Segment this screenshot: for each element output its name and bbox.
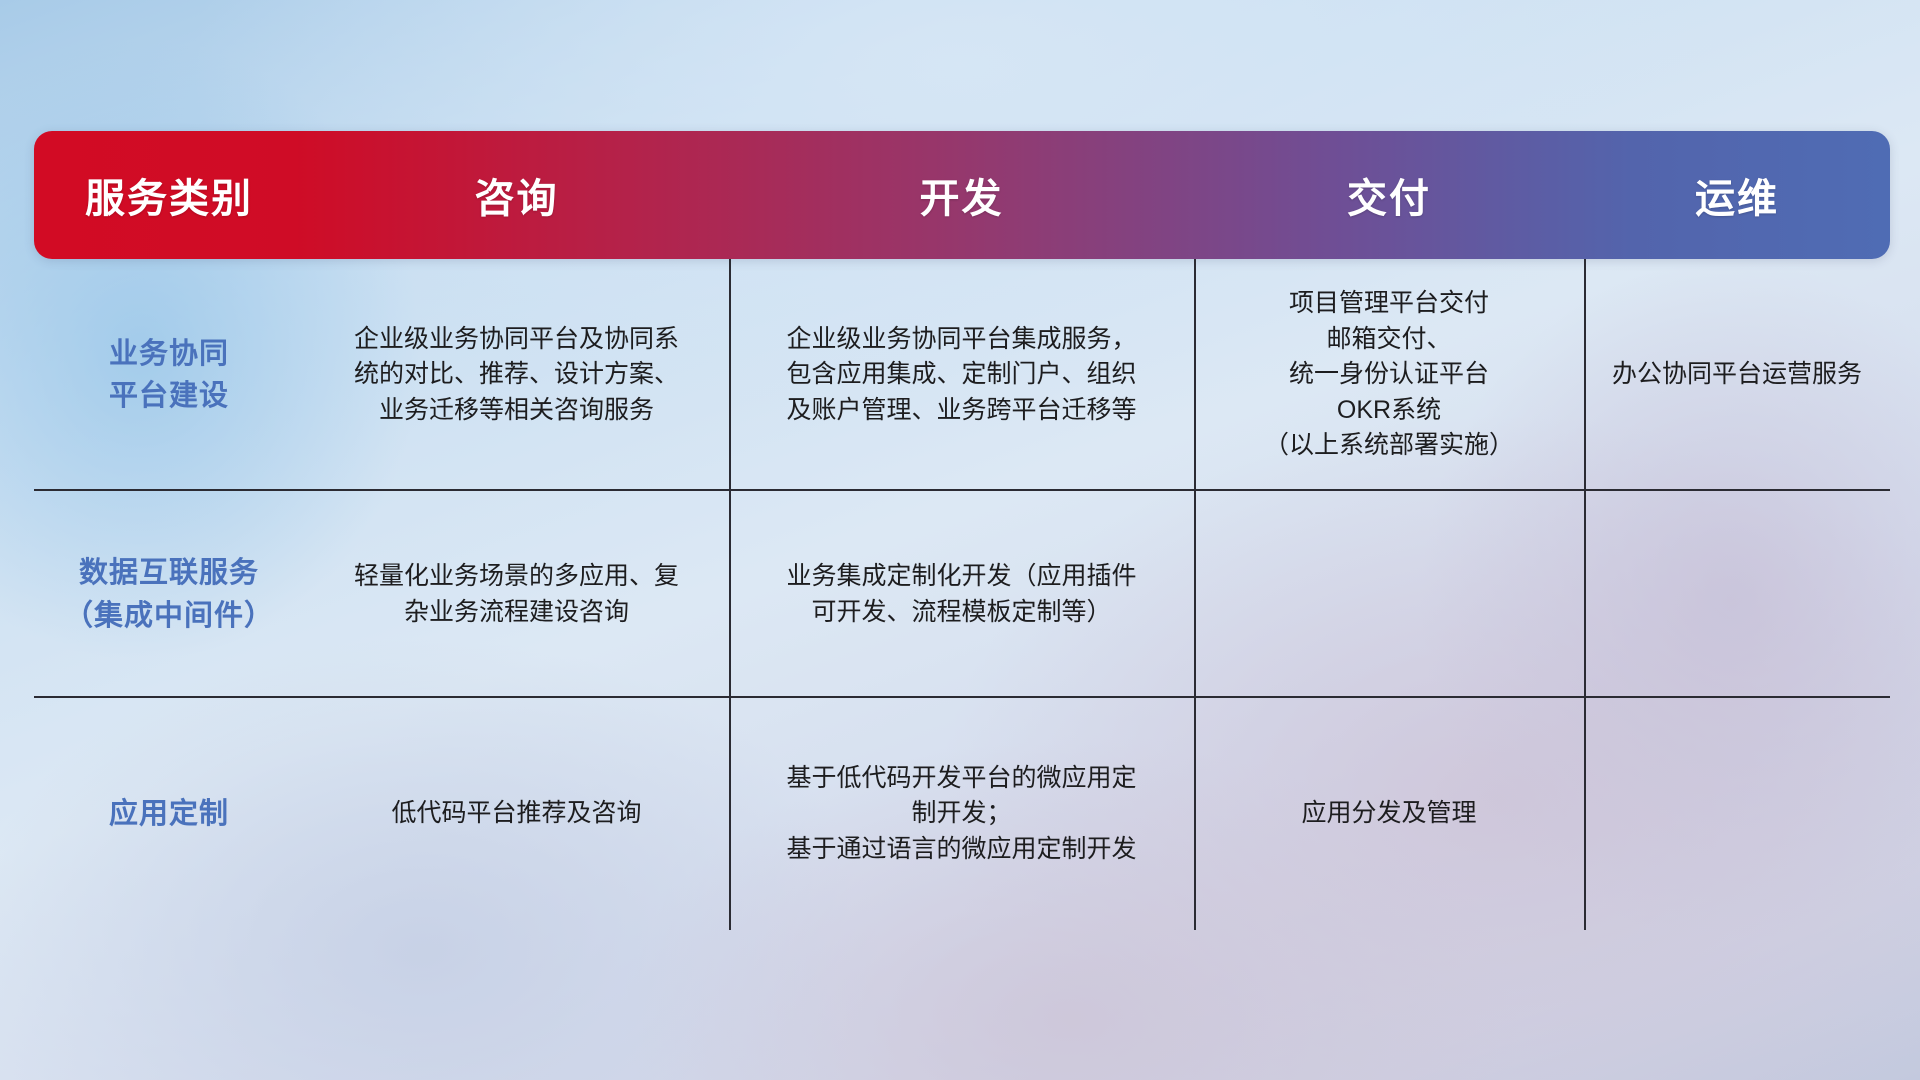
grid-vline-3 [1584, 698, 1586, 930]
column-header-development: 开发 [729, 166, 1194, 224]
table-body: 业务协同 平台建设 企业级业务协同平台及协同系 统的对比、推荐、设计方案、 业务… [34, 259, 1890, 930]
cell-development-row1: 企业级业务协同平台集成服务， 包含应用集成、定制门户、组织 及账户管理、业务跨平… [729, 259, 1194, 491]
grid-vline-2 [1194, 259, 1196, 491]
grid-vline-1 [729, 259, 731, 491]
cell-consulting-row2: 轻量化业务场景的多应用、复 杂业务流程建设咨询 [304, 491, 729, 698]
grid-vline-3 [1584, 491, 1586, 698]
row-label-data-interconnect-service: 数据互联服务 （集成中间件） [34, 491, 304, 698]
grid-vline-2 [1194, 491, 1196, 698]
cell-operations-row1: 办公协同平台运营服务 [1584, 259, 1890, 491]
table-header-bar: 服务类别 咨询 开发 交付 运维 [34, 131, 1890, 259]
grid-vline-2 [1194, 698, 1196, 930]
grid-vline-1 [729, 491, 731, 698]
table-row: 应用定制 低代码平台推荐及咨询 基于低代码开发平台的微应用定 制开发； 基于通过… [34, 698, 1890, 930]
row-label-business-collaboration-platform: 业务协同 平台建设 [34, 259, 304, 491]
cell-delivery-row1: 项目管理平台交付 邮箱交付、 统一身份认证平台 OKR系统 （以上系统部署实施） [1194, 259, 1584, 491]
table-row: 业务协同 平台建设 企业级业务协同平台及协同系 统的对比、推荐、设计方案、 业务… [34, 259, 1890, 491]
column-header-consulting: 咨询 [304, 166, 729, 224]
cell-consulting-row3: 低代码平台推荐及咨询 [304, 698, 729, 930]
grid-vline-3 [1584, 259, 1586, 491]
grid-vline-1 [729, 698, 731, 930]
cell-operations-row2 [1584, 491, 1890, 698]
cell-development-row2: 业务集成定制化开发（应用插件 可开发、流程模板定制等） [729, 491, 1194, 698]
table-row: 数据互联服务 （集成中间件） 轻量化业务场景的多应用、复 杂业务流程建设咨询 业… [34, 491, 1890, 698]
service-category-table: 服务类别 咨询 开发 交付 运维 业务协同 平台建设 企业级业务协同平台及协同系… [34, 131, 1890, 930]
column-header-category: 服务类别 [34, 166, 304, 224]
cell-delivery-row3: 应用分发及管理 [1194, 698, 1584, 930]
cell-development-row3: 基于低代码开发平台的微应用定 制开发； 基于通过语言的微应用定制开发 [729, 698, 1194, 930]
column-header-operations: 运维 [1584, 166, 1890, 224]
column-header-delivery: 交付 [1194, 166, 1584, 224]
cell-operations-row3 [1584, 698, 1890, 930]
cell-delivery-row2 [1194, 491, 1584, 698]
row-label-application-customization: 应用定制 [34, 698, 304, 930]
cell-consulting-row1: 企业级业务协同平台及协同系 统的对比、推荐、设计方案、 业务迁移等相关咨询服务 [304, 259, 729, 491]
